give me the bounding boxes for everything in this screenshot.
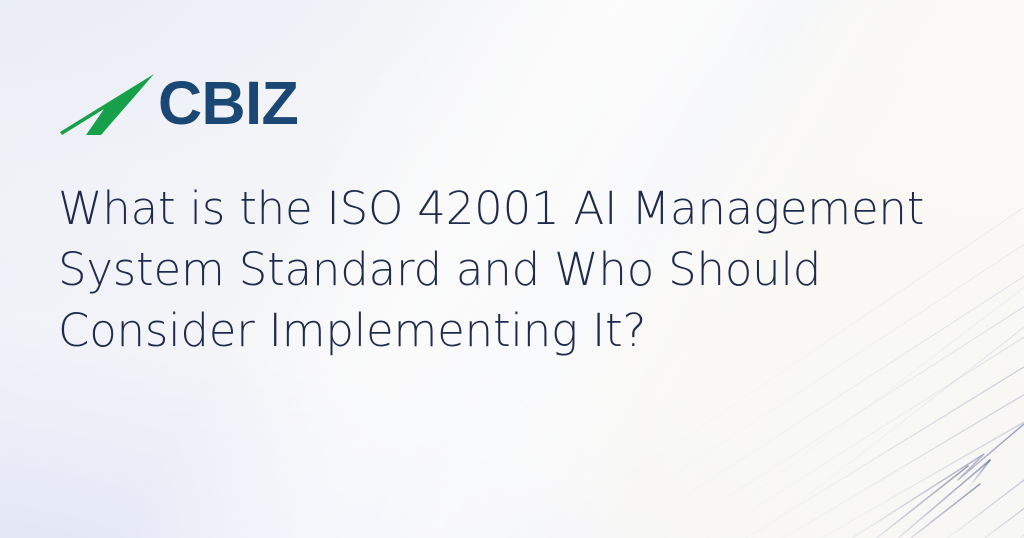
cbiz-logo[interactable]: CBIZ	[60, 68, 298, 140]
cbiz-arrow-swoosh-icon	[60, 72, 156, 136]
article-banner-card: CBIZ What is the ISO 42001 AI Management…	[0, 0, 1024, 538]
page-title: What is the ISO 42001 AI Management Syst…	[58, 178, 998, 361]
cbiz-wordmark: CBIZ	[158, 73, 298, 134]
